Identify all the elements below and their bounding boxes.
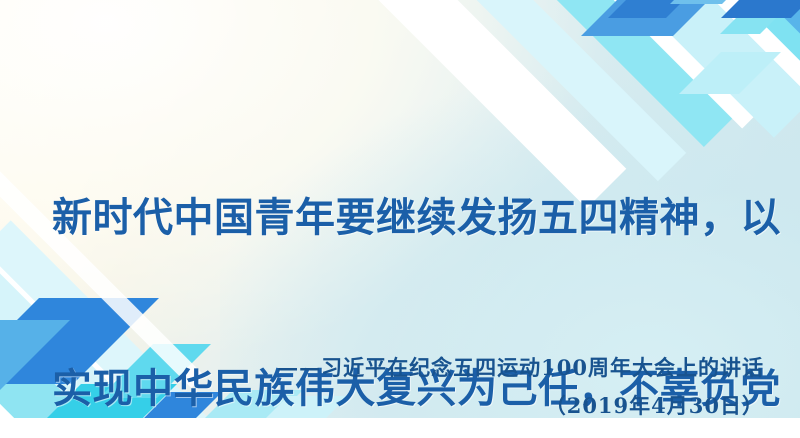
date-line: （2019年4月30日）: [545, 390, 764, 420]
poster-canvas: 新时代中国青年要继续发扬五四精神，以 实现中华民族伟大复兴为己任，不辜负党 的期…: [0, 0, 800, 438]
headline-line-1: 新时代中国青年要继续发扬五四精神，以: [52, 190, 764, 247]
headline-quote: 新时代中国青年要继续发扬五四精神，以 实现中华民族伟大复兴为己任，不辜负党 的期…: [52, 76, 764, 438]
attribution-line: ——习近平在纪念五四运动100周年大会上的讲话: [277, 352, 764, 382]
